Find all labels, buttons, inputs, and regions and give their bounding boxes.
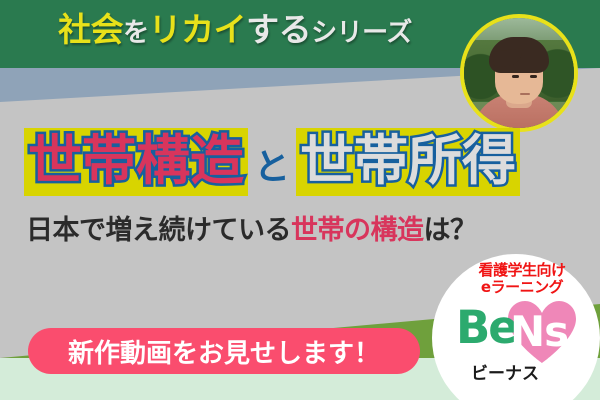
subtitle-suffix: は？ [424,215,477,246]
portrait-hair [489,37,549,73]
logo-text-ns: Ns. [510,311,583,353]
promo-banner: 社会をリカイするシリーズ 世帯構造 と 世帯所得 日本で増え続けている世帯の構造… [0,0,600,400]
logo-mark: Be Ns. [444,299,600,365]
series-title-part-1: 社会 [58,10,123,49]
subtitle-prefix: 日本で増え続けている [26,215,291,246]
portrait-eye-left [512,75,519,78]
headline-word-right: 世帯所得 [296,128,520,196]
series-title-part-2: を [123,18,149,48]
subtitle-highlight: 世帯の構造 [291,215,424,246]
series-title: 社会をリカイするシリーズ [0,3,470,51]
headline-connector: と [248,150,296,186]
logo-tagline-line-2: eラーニング [444,279,600,296]
subtitle: 日本で増え続けている世帯の構造は？ [26,208,477,247]
portrait-eye-right [530,75,537,78]
cta-label: 新作動画をお見せします！ [68,333,380,370]
brand-logo[interactable]: 看護学生向け eラーニング Be Ns. ビーナス [444,262,600,400]
presenter-portrait [460,14,578,132]
series-title-part-4: する [246,10,311,49]
series-title-part-5: シリーズ [311,18,412,48]
series-title-part-3: リカイ [149,10,247,49]
cta-banner[interactable]: 新作動画をお見せします！ [28,328,420,374]
headline-word-left: 世帯構造 [24,128,248,196]
logo-tagline-line-1: 看護学生向け [444,262,600,279]
headline: 世帯構造 と 世帯所得 [24,128,520,196]
portrait-mouth [520,93,530,95]
logo-text-be: Be [456,305,517,350]
